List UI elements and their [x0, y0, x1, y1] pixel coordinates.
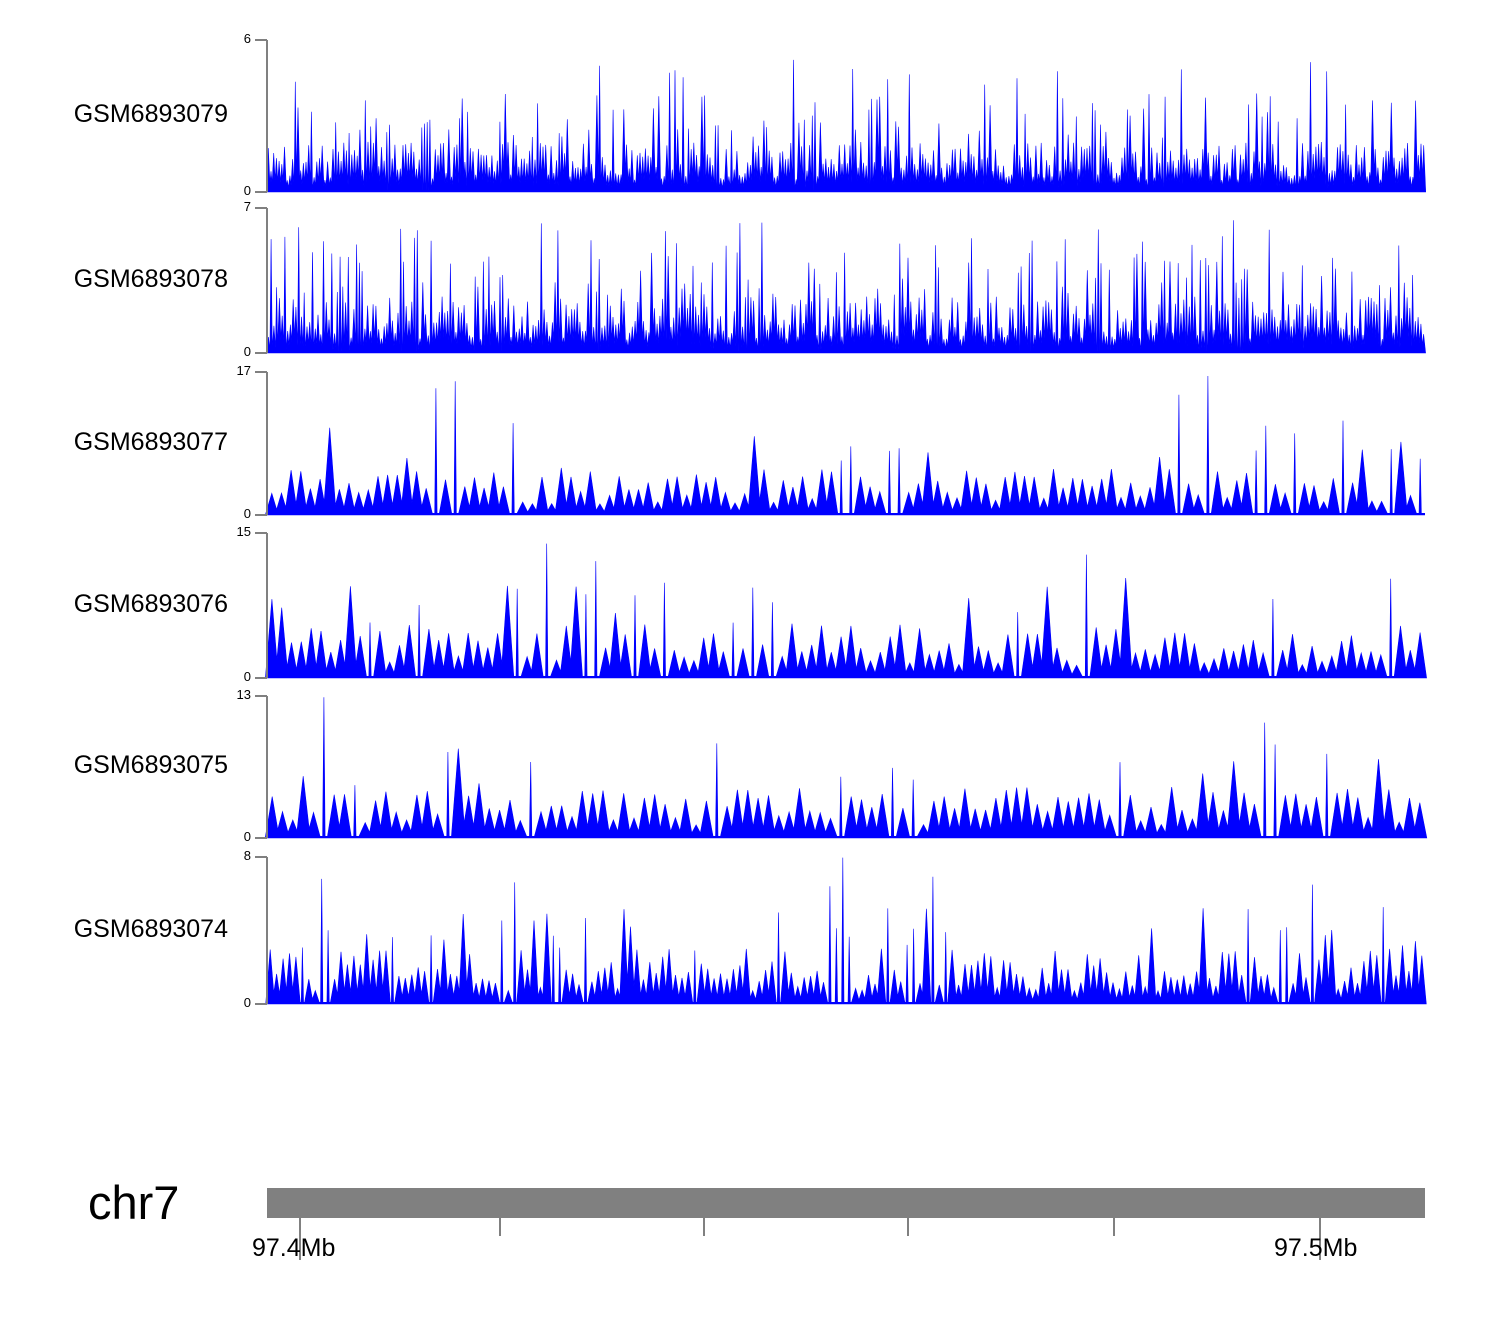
- axis-max-label-GSM6893078: 7: [244, 199, 251, 214]
- track-label-GSM6893075: GSM6893075: [74, 751, 228, 780]
- track-GSM6893077: [265, 376, 1425, 515]
- track-GSM6893074: [266, 858, 1427, 1004]
- axis-max-label-GSM6893074: 8: [244, 848, 251, 863]
- coverage-area-GSM6893078: [266, 220, 1425, 353]
- genome-coverage-figure: GSM689307960GSM689307870GSM6893077170GSM…: [0, 0, 1500, 1320]
- coverage-baseline-GSM6893075: [267, 836, 1425, 838]
- track-GSM6893078: [266, 220, 1425, 353]
- coverage-baseline-GSM6893078: [267, 351, 1425, 353]
- coverage-area-GSM6893079: [266, 60, 1425, 192]
- axis-min-label-GSM6893074: 0: [244, 995, 251, 1010]
- axis-min-label-GSM6893075: 0: [244, 829, 251, 844]
- track-GSM6893076: [265, 544, 1426, 678]
- axis-max-label-GSM6893077: 17: [237, 363, 251, 378]
- coverage-baseline-GSM6893076: [267, 676, 1425, 678]
- coverage-svg: [0, 0, 1500, 1320]
- track-label-GSM6893078: GSM6893078: [74, 265, 228, 294]
- axis-min-label-GSM6893077: 0: [244, 506, 251, 521]
- axis-min-label-GSM6893079: 0: [244, 183, 251, 198]
- track-GSM6893075: [265, 697, 1427, 838]
- track-label-GSM6893076: GSM6893076: [74, 590, 228, 619]
- track-label-GSM6893074: GSM6893074: [74, 915, 228, 944]
- track-label-GSM6893077: GSM6893077: [74, 428, 228, 457]
- track-label-GSM6893079: GSM6893079: [74, 100, 228, 129]
- axis-min-label-GSM6893078: 0: [244, 344, 251, 359]
- coverage-baseline-GSM6893079: [267, 190, 1425, 192]
- ideogram-bar: [267, 1188, 1425, 1218]
- axis-end-label: 97.5Mb: [1274, 1234, 1357, 1263]
- coverage-area-GSM6893075: [265, 697, 1427, 838]
- chromosome-label: chr7: [88, 1175, 179, 1230]
- axis-min-label-GSM6893076: 0: [244, 669, 251, 684]
- coverage-baseline-GSM6893077: [267, 513, 1425, 515]
- coverage-area-GSM6893076: [265, 544, 1426, 678]
- coverage-area-GSM6893074: [266, 858, 1427, 1004]
- axis-max-label-GSM6893075: 13: [237, 687, 251, 702]
- axis-max-label-GSM6893079: 6: [244, 31, 251, 46]
- track-GSM6893079: [266, 60, 1425, 192]
- coverage-area-GSM6893077: [265, 376, 1425, 515]
- coverage-baseline-GSM6893074: [267, 1002, 1425, 1004]
- axis-start-label: 97.4Mb: [252, 1234, 335, 1263]
- axis-max-label-GSM6893076: 15: [237, 524, 251, 539]
